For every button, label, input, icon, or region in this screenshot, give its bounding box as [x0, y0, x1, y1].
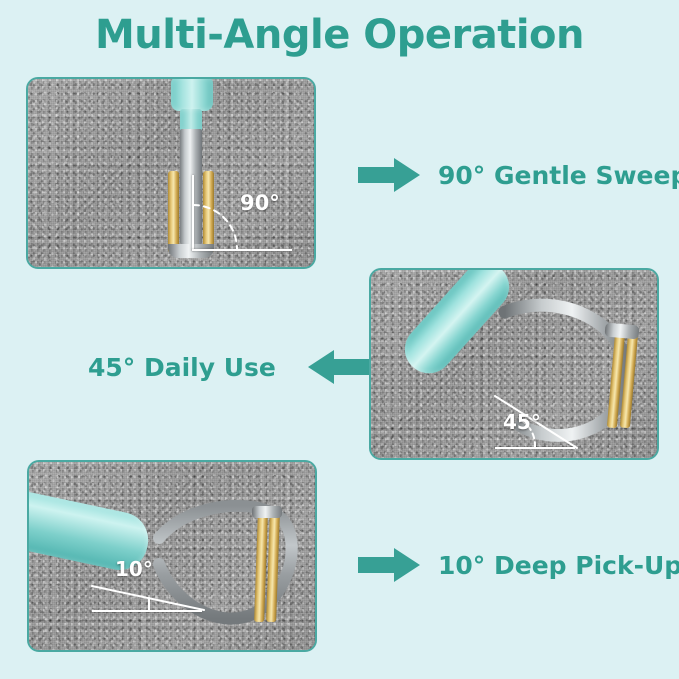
infographic-page: Multi-Angle Operation 90° — [0, 0, 679, 679]
caption-row-90: 90° Gentle Sweep — [358, 158, 679, 192]
panel-10-degree: 10° — [27, 460, 317, 652]
tool-illustration-90 — [28, 79, 316, 269]
caption-text-90: 90° Gentle Sweep — [438, 161, 679, 190]
arrow-right-icon-10 — [358, 548, 420, 582]
angle-label-10: 10° — [115, 557, 153, 581]
tool-blade-cap-45 — [604, 323, 639, 340]
tool-blade-cap-10 — [252, 506, 282, 518]
tool-illustration-10 — [29, 462, 317, 652]
arrow-left-icon-45 — [308, 350, 370, 384]
caption-row-10: 10° Deep Pick-Up — [358, 548, 679, 582]
caption-text-10: 10° Deep Pick-Up — [438, 551, 679, 580]
angle-label-90: 90° — [240, 191, 280, 215]
caption-row-45: 45° Daily Use — [88, 350, 370, 384]
page-title: Multi-Angle Operation — [0, 12, 679, 58]
panel-90-degree: 90° — [26, 77, 316, 269]
panel-45-degree: 45° — [369, 268, 659, 460]
angle-arc-90 — [188, 201, 244, 257]
caption-text-45: 45° Daily Use — [88, 353, 276, 382]
arrow-right-icon-90 — [358, 158, 420, 192]
tool-handle-90 — [171, 77, 213, 111]
angle-diagonal-line-10 — [89, 582, 209, 618]
tool-brass-left-90 — [168, 171, 179, 253]
angle-label-45: 45° — [503, 410, 541, 434]
